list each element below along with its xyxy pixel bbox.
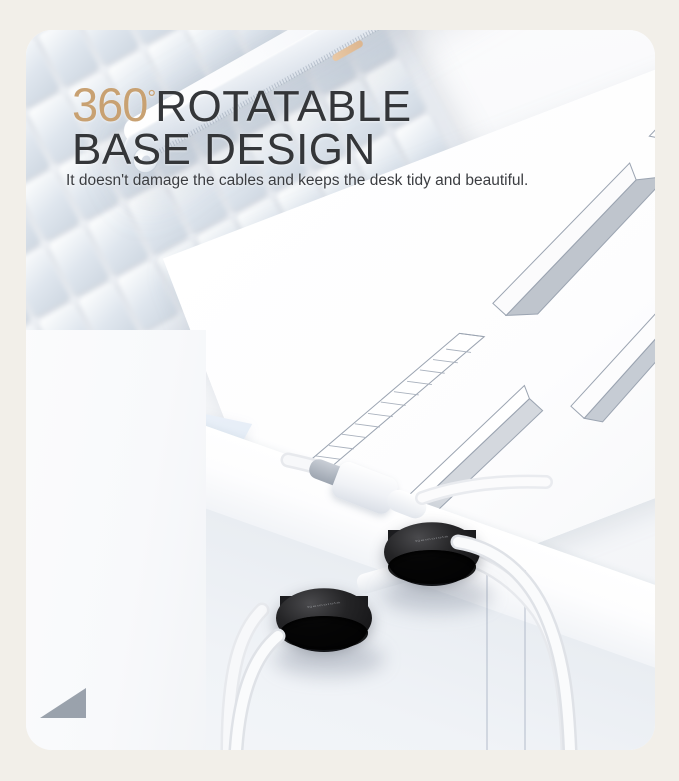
headline-line-2: BASE DESIGN	[72, 129, 412, 172]
headline-360: 360	[72, 78, 147, 131]
product-banner-scene: TO DO: - email vendors - reply to HR - f…	[0, 0, 679, 781]
organizer-groove	[388, 550, 476, 584]
organizer-groove	[280, 616, 368, 650]
headline-line-1: 360°ROTATABLE	[72, 82, 412, 129]
brand-mark: Nemoiola	[307, 601, 341, 609]
desk-panel-seam	[524, 570, 526, 750]
headline-rotatable: ROTATABLE	[155, 82, 411, 131]
cable-organizer-left[interactable]: Nemoiola	[276, 570, 372, 666]
headline: 360°ROTATABLE BASE DESIGN	[72, 82, 412, 171]
desk-corner-shadow	[40, 688, 86, 718]
cable-organizer-right[interactable]: Nemoiola	[384, 504, 480, 600]
product-photo: TO DO: - email vendors - reply to HR - f…	[26, 30, 655, 750]
subheadline: It doesn't damage the cables and keeps t…	[66, 172, 528, 190]
brand-mark: Nemoiola	[415, 535, 449, 543]
desk-left-panel	[26, 330, 206, 750]
